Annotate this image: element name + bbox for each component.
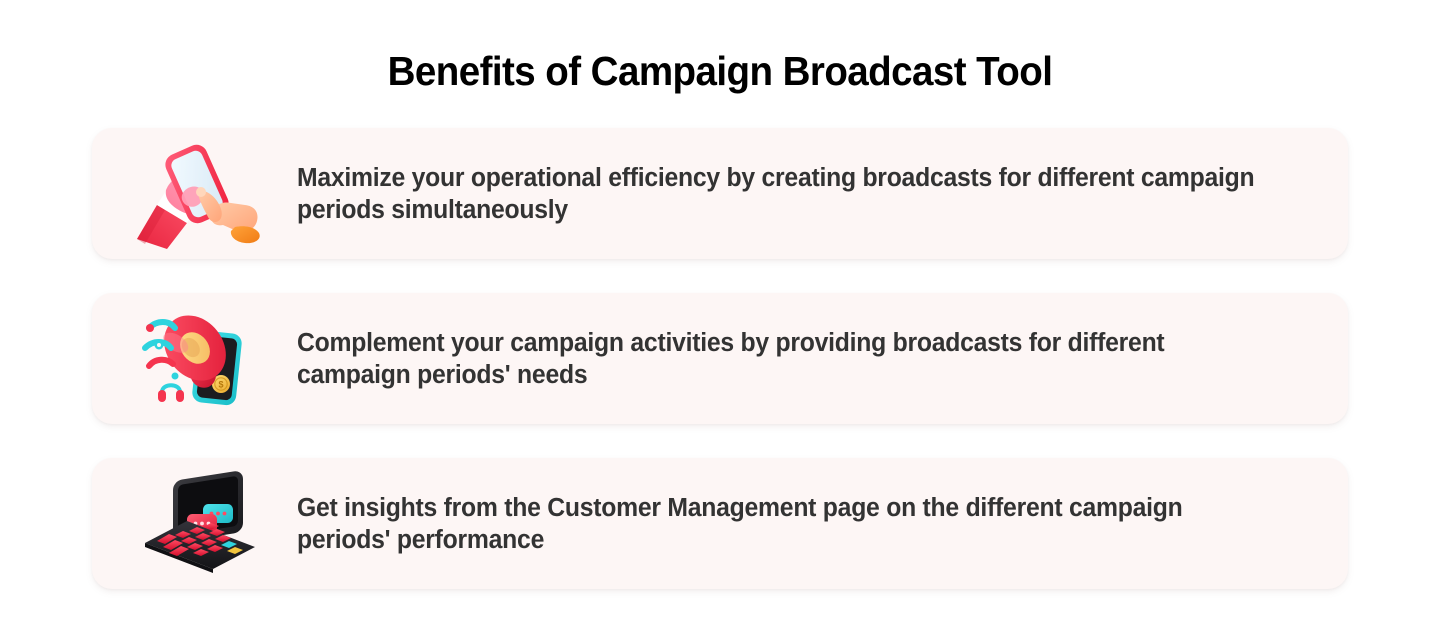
page-title: Benefits of Campaign Broadcast Tool [43,45,1397,97]
benefit-card-1: Maximize your operational efficiency by … [92,128,1348,259]
benefit-card-2-text: Complement your campaign activities by p… [297,327,1278,391]
megaphone-phone-icon: $ [135,304,265,414]
benefit-card-2: $ [92,293,1348,424]
hand-tapping-phone-icon [135,139,265,249]
svg-text:$: $ [218,379,223,389]
benefit-card-3-text: Get insights from the Customer Managemen… [297,492,1278,556]
benefit-card-1-text: Maximize your operational efficiency by … [297,162,1278,226]
benefits-card-list: Maximize your operational efficiency by … [92,128,1348,589]
laptop-chat-icon [135,469,265,579]
benefit-card-3: Get insights from the Customer Managemen… [92,458,1348,589]
benefits-page: Benefits of Campaign Broadcast Tool [0,0,1440,636]
